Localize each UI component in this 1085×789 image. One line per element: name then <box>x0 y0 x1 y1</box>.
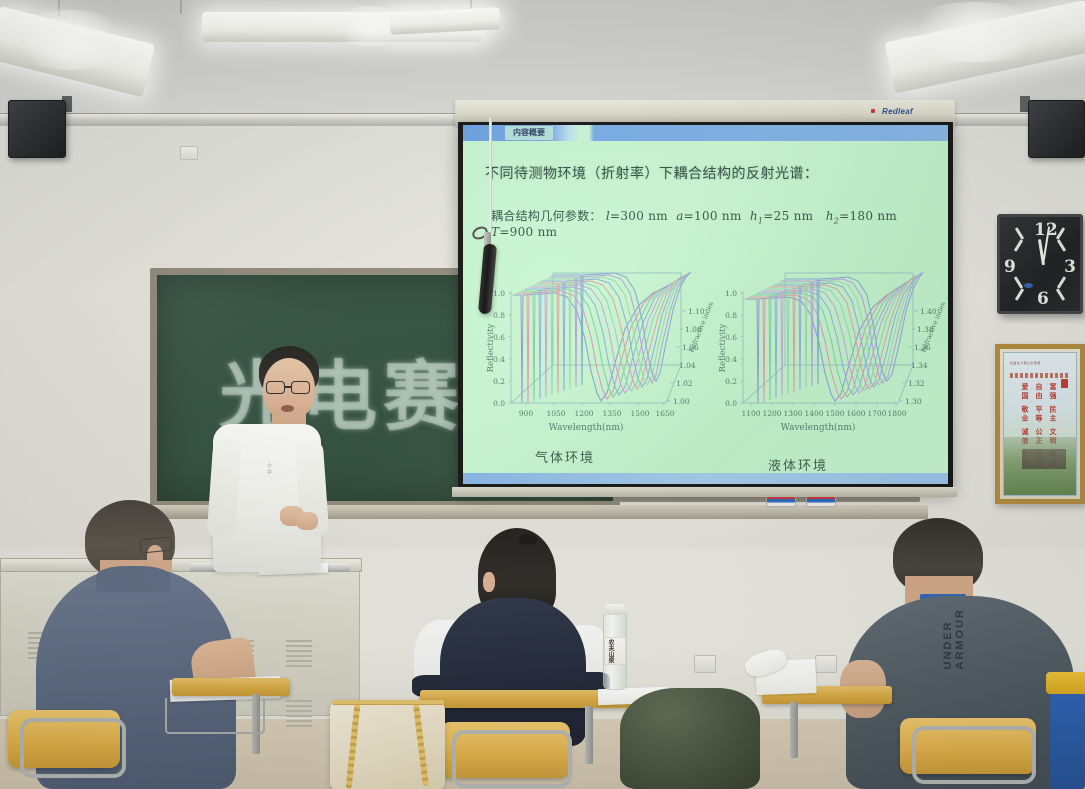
desk-left <box>172 678 290 696</box>
chair-right-frame <box>912 726 1036 784</box>
audience-center-ear <box>483 572 495 592</box>
svg-text:1500: 1500 <box>825 409 844 418</box>
poster-decorative-band <box>1010 373 1070 378</box>
svg-text:1100: 1100 <box>741 409 760 418</box>
light-glow-far-right <box>900 2 1050 62</box>
draped-jacket <box>620 688 760 789</box>
slide-section-tab: 内容概要 <box>505 126 553 140</box>
svg-text:Wavelength(nm): Wavelength(nm) <box>549 422 624 433</box>
svg-text:1500: 1500 <box>630 409 649 418</box>
chart-liquid-svg: 0.0 0.2 0.4 0.6 0.8 1.0 1100 1200 1300 1… <box>713 253 935 443</box>
slide-surface: 内容概要 不同待测物环境（折射率）下耦合结构的反射光谱： 耦合结构几何参数： l… <box>463 125 948 484</box>
wall-socket-left[interactable] <box>180 146 198 160</box>
svg-text:1.02: 1.02 <box>676 379 693 388</box>
slide-heading: 不同待测物环境（折射率）下耦合结构的反射光谱： <box>485 163 819 183</box>
svg-text:1.0: 1.0 <box>725 289 737 298</box>
svg-text:1800: 1800 <box>887 409 906 418</box>
desk-right-leg <box>790 702 798 758</box>
clock-number-6: 6 <box>1037 289 1049 309</box>
handbag-flap-edge <box>332 700 444 705</box>
slide-parameters-prefix: 耦合结构几何参数： <box>491 209 602 223</box>
screen-brand-label: Redleaf <box>882 107 913 116</box>
presenter-glasses <box>266 381 285 394</box>
caption-liquid-environment: 液体环境 <box>768 455 828 474</box>
wall-socket-right[interactable] <box>694 655 716 673</box>
light-glow-left <box>10 10 130 70</box>
slide-parameters: 耦合结构几何参数： l=300 nm a=100 nm h1=25 nm h2=… <box>491 207 948 239</box>
water-bottle-cap <box>605 604 625 615</box>
recycling-bin <box>1050 688 1085 789</box>
svg-text:1.30: 1.30 <box>905 397 922 406</box>
desk-center-leg-1 <box>585 706 593 764</box>
chair-left-frame <box>20 718 126 778</box>
svg-text:Reflectivity: Reflectivity <box>718 323 728 372</box>
microphone-cable <box>489 118 492 233</box>
svg-text:1650: 1650 <box>655 409 674 418</box>
projector-screen: 内容概要 不同待测物环境（折射率）下耦合结构的反射光谱： 耦合结构几何参数： l… <box>458 122 953 490</box>
svg-text:Reflectivity: Reflectivity <box>486 323 496 372</box>
chart-gas-environment: 0.0 0.2 0.4 0.6 0.8 1.0 900 1050 1200 13… <box>481 253 703 443</box>
presenter-glasses-bridge <box>285 386 291 388</box>
desk-left-basket <box>165 698 265 734</box>
wall-socket-far-right[interactable] <box>815 655 837 673</box>
poster-header-text: 社会主义核心价值观 <box>1010 361 1041 365</box>
caption-gas-environment: 气体环境 <box>535 447 595 466</box>
classroom-scene: 光电赛 Redleaf 内容概要 不同待测物环境（折射率）下耦合结构的反射光谱：… <box>0 0 1085 789</box>
svg-text:0.2: 0.2 <box>725 377 737 386</box>
svg-text:1.0: 1.0 <box>493 289 505 298</box>
presenter-glasses-right <box>291 381 310 394</box>
svg-text:1300: 1300 <box>783 409 802 418</box>
svg-text:Wavelength(nm): Wavelength(nm) <box>781 422 856 433</box>
speaker-right <box>1028 100 1085 158</box>
projector-screen-weight-bar <box>452 487 957 497</box>
svg-text:1200: 1200 <box>762 409 781 418</box>
presenter-mouth <box>281 405 294 412</box>
clock-tick-6 <box>1057 239 1066 252</box>
recycling-bin-lid <box>1046 672 1085 694</box>
clock-tick-8 <box>1057 276 1066 289</box>
water-bottle-brand: 农夫山泉 <box>606 639 615 663</box>
wall-clock: 12 3 6 9 <box>997 214 1083 314</box>
clock-tick-1 <box>1015 227 1024 240</box>
poster-inner: 社会主义核心价值观 富强 民主 文明 和谐 自由 平等 公正 法治 爱国 敬业 … <box>1003 352 1077 496</box>
slide-footer-bar <box>463 473 948 484</box>
audience-right-shirt-brand: UNDER ARMOUR <box>942 608 966 670</box>
chair-center-frame <box>452 730 572 788</box>
brand-dot-icon <box>871 109 875 113</box>
podium-vent-4 <box>286 700 312 730</box>
presenter-right-hand <box>296 512 318 530</box>
poster-building <box>1022 449 1066 469</box>
water-bottle-label: 农夫山泉 <box>604 637 626 665</box>
clock-tick-4 <box>1056 288 1065 301</box>
clock-tick-7 <box>1014 276 1023 289</box>
chart-gas-svg: 0.0 0.2 0.4 0.6 0.8 1.0 900 1050 1200 13… <box>481 253 703 443</box>
svg-text:0.8: 0.8 <box>493 311 505 320</box>
audience-left-collar <box>96 566 170 592</box>
presenter-shirt-logo: 小字 <box>267 462 273 476</box>
clock-tick-5 <box>1014 239 1023 252</box>
svg-text:0.0: 0.0 <box>725 399 737 408</box>
light-hanger-center <box>180 0 182 14</box>
svg-text:1050: 1050 <box>546 409 565 418</box>
podium-vent-3 <box>286 640 312 670</box>
clock-number-9: 9 <box>1004 257 1016 277</box>
audience-center-ponytail-tie <box>519 534 537 545</box>
svg-text:1.32: 1.32 <box>908 379 925 388</box>
svg-text:0.8: 0.8 <box>725 311 737 320</box>
speaker-left <box>8 100 66 158</box>
svg-text:1600: 1600 <box>846 409 865 418</box>
svg-text:1700: 1700 <box>867 409 886 418</box>
clock-tick-3 <box>1015 288 1024 301</box>
svg-text:0.2: 0.2 <box>493 377 505 386</box>
svg-text:1.04: 1.04 <box>679 361 696 370</box>
svg-text:1200: 1200 <box>574 409 593 418</box>
svg-text:1350: 1350 <box>602 409 621 418</box>
svg-text:1400: 1400 <box>804 409 823 418</box>
clock-number-3: 3 <box>1064 257 1076 277</box>
svg-text:1.34: 1.34 <box>911 361 928 370</box>
chart-liquid-environment: 0.0 0.2 0.4 0.6 0.8 1.0 1100 1200 1300 1… <box>713 253 935 443</box>
values-poster: 社会主义核心价值观 富强 民主 文明 和谐 自由 平等 公正 法治 爱国 敬业 … <box>995 344 1085 504</box>
svg-text:900: 900 <box>519 409 534 418</box>
poster-seal-icon <box>1061 379 1068 388</box>
svg-text:0.0: 0.0 <box>493 399 505 408</box>
clock-brand-logo <box>1024 283 1033 288</box>
svg-text:1.00: 1.00 <box>673 397 690 406</box>
